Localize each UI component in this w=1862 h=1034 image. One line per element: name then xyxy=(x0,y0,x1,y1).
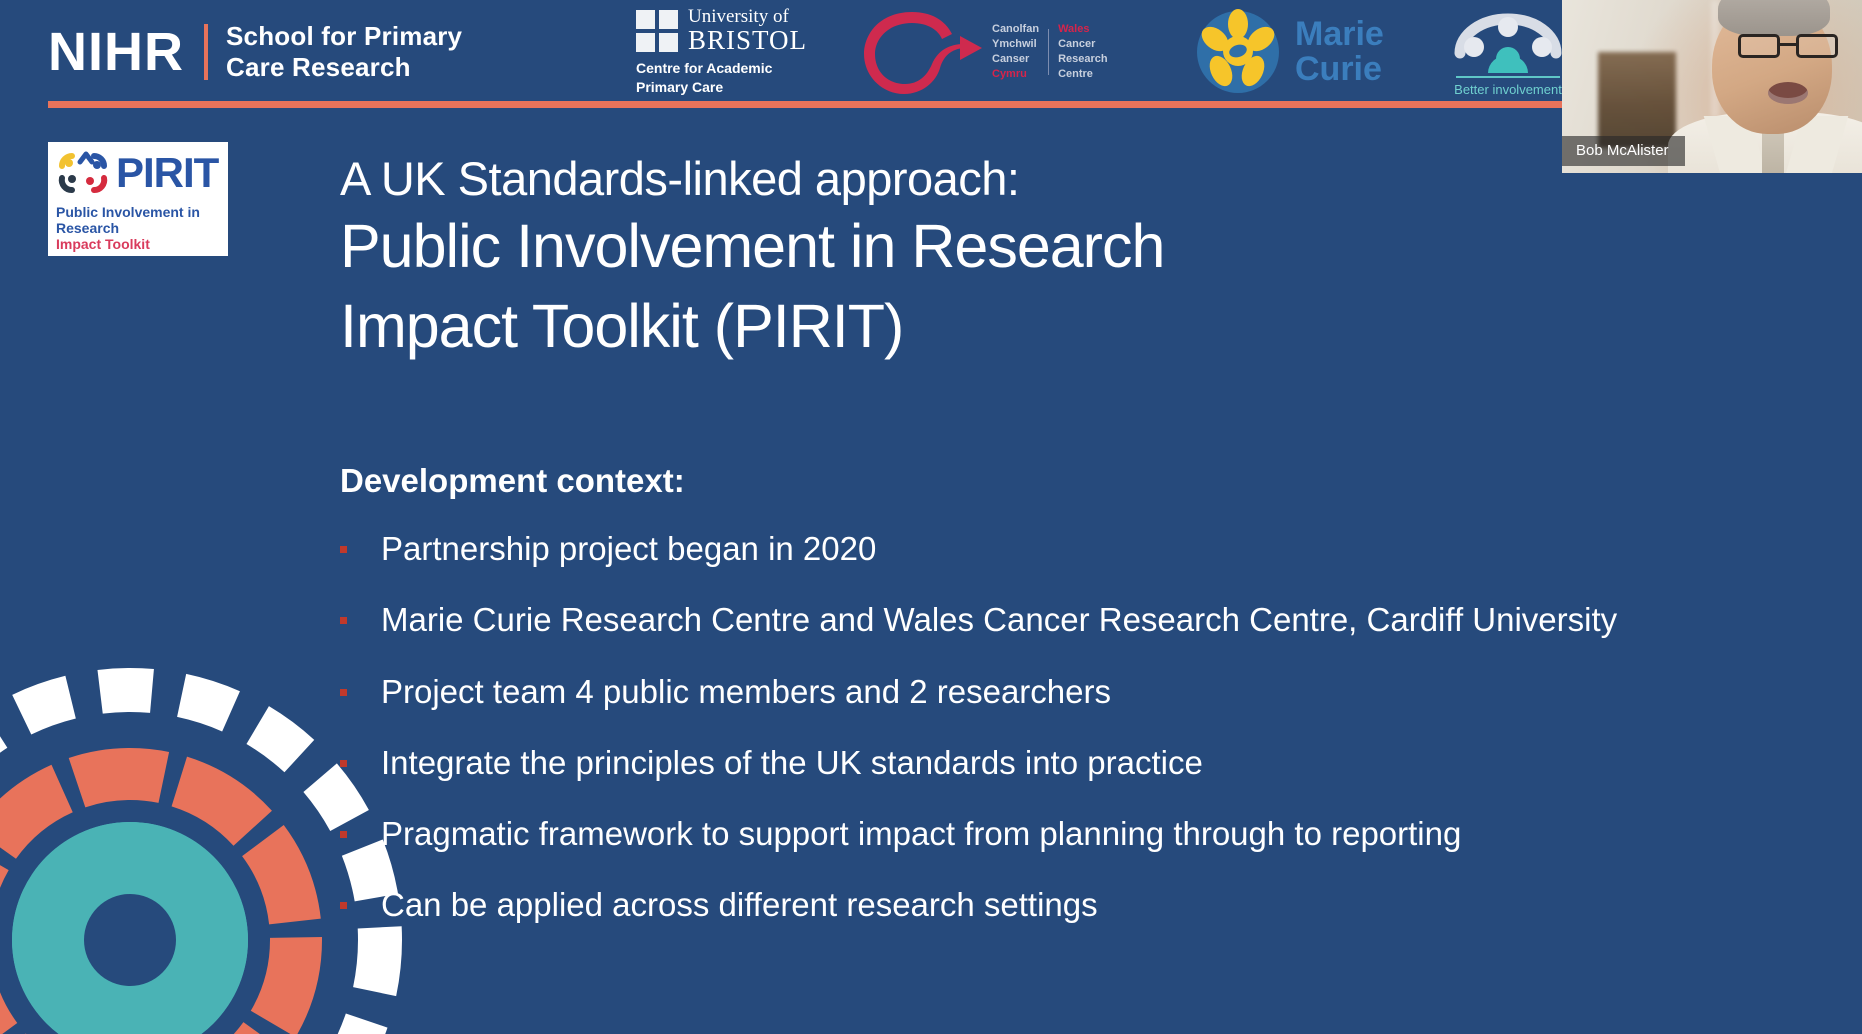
list-item: Pragmatic framework to support impact fr… xyxy=(340,815,1810,853)
bristol-university-label: University of xyxy=(688,7,807,26)
participant-video-tile[interactable]: Bob McAlister xyxy=(1562,0,1862,173)
wcrc-english-text: Wales Cancer Research Centre xyxy=(1058,22,1108,81)
wcrc-welsh-line4: Cymru xyxy=(992,67,1039,82)
bristol-subtitle-line2: Primary Care xyxy=(636,78,723,97)
bristol-crest-icon xyxy=(636,10,678,52)
list-item-text: Project team 4 public members and 2 rese… xyxy=(381,673,1111,711)
glasses-icon xyxy=(1738,34,1838,58)
university-of-bristol-logo: University of BRISTOL Centre for Academi… xyxy=(636,0,807,104)
wcrc-welsh-line3: Canser xyxy=(992,52,1039,67)
bristol-name: BRISTOL xyxy=(688,26,807,54)
pirit-tagline-line2: Impact Toolkit xyxy=(56,236,220,252)
bullet-icon xyxy=(340,760,347,767)
bullet-icon xyxy=(340,617,347,624)
list-item: Integrate the principles of the UK stand… xyxy=(340,744,1810,782)
wales-cancer-research-centre-logo: Canolfan Ymchwil Canser Cymru Wales Canc… xyxy=(856,0,1108,104)
marie-curie-logo: Marie Curie xyxy=(1195,0,1384,104)
participant-name-label: Bob McAlister xyxy=(1562,136,1685,166)
slide-title: A UK Standards-linked approach: Public I… xyxy=(340,150,1520,366)
list-item: Can be applied across different research… xyxy=(340,886,1810,924)
wcrc-welsh-line2: Ymchwil xyxy=(992,37,1039,52)
pirit-people-icon xyxy=(56,146,110,200)
list-item-text: Partnership project began in 2020 xyxy=(381,530,876,568)
title-line2: Impact Toolkit (PIRIT) xyxy=(340,287,1520,366)
better-involvement-caption: Better involvement xyxy=(1454,82,1562,97)
presentation-slide: NIHR School for Primary Care Research Un… xyxy=(0,0,1862,1034)
marie-curie-line1: Marie xyxy=(1295,17,1384,52)
list-item-text: Marie Curie Research Centre and Wales Ca… xyxy=(381,601,1617,639)
wcrc-english-line4: Centre xyxy=(1058,67,1108,82)
nihr-wordmark: NIHR xyxy=(48,25,184,79)
wcrc-welsh-text: Canolfan Ymchwil Canser Cymru xyxy=(992,22,1039,81)
participant-hair xyxy=(1718,0,1830,36)
development-context-heading: Development context: xyxy=(340,462,685,500)
list-item: Marie Curie Research Centre and Wales Ca… xyxy=(340,601,1810,639)
better-involvement-logo: Better involvement xyxy=(1452,0,1564,104)
better-involvement-divider xyxy=(1456,76,1560,78)
bristol-subtitle-line1: Centre for Academic xyxy=(636,59,772,78)
bullet-icon xyxy=(340,831,347,838)
nihr-divider xyxy=(204,24,208,80)
bullet-list: Partnership project began in 2020 Marie … xyxy=(340,530,1810,958)
wcrc-swoosh-icon xyxy=(856,6,988,98)
bullet-icon xyxy=(340,689,347,696)
wcrc-divider xyxy=(1048,29,1049,75)
list-item-text: Integrate the principles of the UK stand… xyxy=(381,744,1203,782)
pirit-tagline-line1: Public Involvement in Research xyxy=(56,204,220,236)
people-circle-icon xyxy=(1452,7,1564,73)
list-item-text: Pragmatic framework to support impact fr… xyxy=(381,815,1461,853)
nihr-subtitle-line2: Care Research xyxy=(226,52,462,83)
pirit-logo-card: PIRIT Public Involvement in Research Imp… xyxy=(48,142,228,256)
wcrc-english-line1: Wales xyxy=(1058,22,1108,37)
title-line1: Public Involvement in Research xyxy=(340,207,1520,286)
nihr-logo: NIHR School for Primary Care Research xyxy=(48,0,462,104)
wcrc-english-line2: Cancer xyxy=(1058,37,1108,52)
bullet-icon xyxy=(340,546,347,553)
list-item-text: Can be applied across different research… xyxy=(381,886,1098,924)
nihr-subtitle-line1: School for Primary xyxy=(226,21,462,52)
participant-mouth xyxy=(1768,82,1808,104)
list-item: Project team 4 public members and 2 rese… xyxy=(340,673,1810,711)
list-item: Partnership project began in 2020 xyxy=(340,530,1810,568)
daffodil-icon xyxy=(1195,9,1281,95)
wcrc-english-line3: Research xyxy=(1058,52,1108,67)
title-prefix: A UK Standards-linked approach: xyxy=(340,150,1520,207)
background-shelf xyxy=(1598,52,1676,148)
bullet-icon xyxy=(340,902,347,909)
marie-curie-line2: Curie xyxy=(1295,52,1384,87)
pirit-wordmark: PIRIT xyxy=(116,152,218,194)
wcrc-welsh-line1: Canolfan xyxy=(992,22,1039,37)
